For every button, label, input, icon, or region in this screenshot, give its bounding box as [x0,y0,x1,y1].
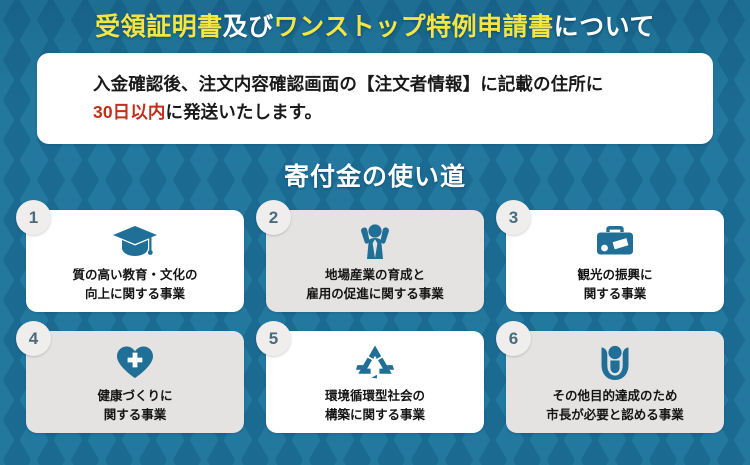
use-card-2[interactable]: 2 地場産業の育成と 雇用の促進に関する事業 [266,210,484,312]
card-number-badge-4: 4 [16,321,51,356]
card-number-badge-1: 1 [16,200,51,235]
card-label-4: 健康づくりに 関する事業 [97,387,172,423]
card-label-2: 地場産業の育成と 雇用の促進に関する事業 [306,266,444,302]
use-card-1[interactable]: 1 質の高い教育・文化の 向上に関する事業 [26,210,244,312]
use-card-3[interactable]: 3 観光の振興に 関する事業 [506,210,724,312]
notice-emphasis: 30日以内 [93,102,165,122]
person-in-hands-icon [596,342,634,382]
person-raising-arms-icon [354,221,396,261]
card-number-badge-3: 3 [496,200,531,235]
heart-plus-icon [115,342,155,382]
suitcase-icon [594,221,636,261]
card-label-1: 質の高い教育・文化の 向上に関する事業 [72,266,197,302]
graduation-cap-icon [112,221,158,261]
card-label-3: 観光の振興に 関する事業 [577,266,652,302]
use-card-5[interactable]: 5 環境循環型社会の 構築に関する事業 [266,331,484,433]
use-card-6[interactable]: 6 その他目的達成のため 市長が必要と認める事業 [506,331,724,433]
section-heading: 寄付金の使い道 [0,157,750,193]
title-segment-1: 受領証明書 [95,13,223,41]
title-segment-2: 及び [223,13,274,41]
card-number-badge-6: 6 [496,321,531,356]
card-label-6: その他目的達成のため 市長が必要と認める事業 [546,387,684,423]
notice-line-1: 入金確認後、注文内容確認画面の【注文者情報】に記載の住所に [93,70,713,98]
title-segment-4: について [554,13,655,41]
notice-box: 入金確認後、注文内容確認画面の【注文者情報】に記載の住所に 30日以内に発送いた… [37,53,713,145]
donation-use-cards-grid: 1 質の高い教育・文化の 向上に関する事業 2 [26,210,724,433]
notice-line-2: 30日以内に発送いたします。 [93,98,713,126]
recycle-icon [355,342,395,382]
use-card-4[interactable]: 4 健康づくりに 関する事業 [26,331,244,433]
card-label-5: 環境循環型社会の 構築に関する事業 [325,387,425,423]
card-number-badge-2: 2 [256,200,291,235]
page-title: 受領証明書及びワンストップ特例申請書について [0,0,750,42]
title-segment-3: ワンストップ特例申請書 [274,13,554,41]
notice-line-2-rest: に発送いたします。 [165,102,322,122]
card-number-badge-5: 5 [256,321,291,356]
